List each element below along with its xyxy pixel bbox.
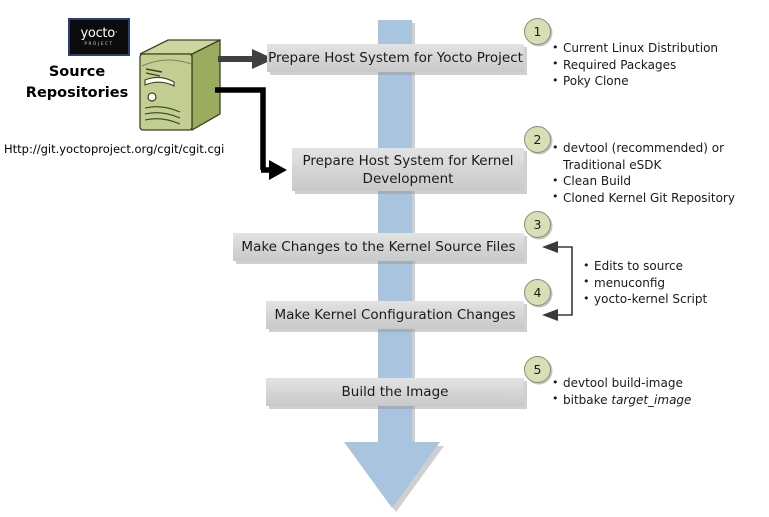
list-item: Cloned Kernel Git Repository xyxy=(552,190,764,207)
bitbake-command: bitbake xyxy=(563,393,611,407)
list-item: devtool (recommended) or Traditional eSD… xyxy=(552,140,764,173)
process-box-step1[interactable]: Prepare Host System for Yocto Project xyxy=(267,44,524,72)
step1-bullet-list: Current Linux Distribution Required Pack… xyxy=(552,40,762,90)
list-item: menuconfig xyxy=(583,275,763,292)
process-box-step5[interactable]: Build the Image xyxy=(266,378,524,406)
process-box-step3-label: Make Changes to the Kernel Source Files xyxy=(241,238,515,256)
connector-server-to-step2 xyxy=(215,80,287,180)
process-box-step4[interactable]: Make Kernel Configuration Changes xyxy=(266,301,524,329)
process-box-step4-label: Make Kernel Configuration Changes xyxy=(274,306,515,324)
server-tower-icon xyxy=(136,36,222,136)
step-number-1: 1 xyxy=(524,18,551,45)
step5-bullet-list: devtool build-image bitbake target_image xyxy=(552,375,752,408)
step3-step4-shared-bullet-list: Edits to source menuconfig yocto-kernel … xyxy=(583,258,763,308)
step-number-5-text: 5 xyxy=(534,362,542,377)
list-item: Required Packages xyxy=(552,57,762,74)
list-item: devtool build-image xyxy=(552,375,752,392)
list-item: Edits to source xyxy=(583,258,763,275)
step-number-3: 3 xyxy=(524,211,551,238)
logo-dot: · xyxy=(115,28,118,38)
step-number-4: 4 xyxy=(524,279,551,306)
source-repository-url: Http://git.yoctoproject.org/cgit/cgit.cg… xyxy=(4,142,224,156)
process-box-step3[interactable]: Make Changes to the Kernel Source Files xyxy=(233,233,524,261)
process-box-step2[interactable]: Prepare Host System for Kernel Developme… xyxy=(292,148,524,191)
logo-wordmark: yocto· xyxy=(81,27,118,40)
list-item: yocto-kernel Script xyxy=(583,291,763,308)
step-number-1-text: 1 xyxy=(534,24,542,39)
process-box-step5-label: Build the Image xyxy=(342,383,449,401)
yocto-project-logo: yocto· PROJECT xyxy=(68,18,130,56)
list-item: Current Linux Distribution xyxy=(552,40,762,57)
step-number-5: 5 xyxy=(524,356,551,383)
list-item: Clean Build xyxy=(552,173,764,190)
logo-wordmark-text: yocto xyxy=(81,26,115,41)
list-item-bitbake: bitbake target_image xyxy=(552,392,752,409)
logo-subtext: PROJECT xyxy=(84,42,113,46)
bitbake-target-arg: target_image xyxy=(611,393,691,407)
list-item: Poky Clone xyxy=(552,73,762,90)
step-number-4-text: 4 xyxy=(534,285,542,300)
flow-arrow-head xyxy=(336,434,448,510)
step-number-3-text: 3 xyxy=(534,217,542,232)
process-box-step1-label: Prepare Host System for Yocto Project xyxy=(268,49,523,67)
step-number-2-text: 2 xyxy=(534,132,542,147)
source-label-line2: Repositories xyxy=(16,83,138,104)
source-repositories-label: Source Repositories xyxy=(16,62,138,104)
process-box-step2-label: Prepare Host System for Kernel Developme… xyxy=(292,152,524,188)
step-number-2: 2 xyxy=(524,126,551,153)
source-label-line1: Source xyxy=(16,62,138,83)
diagram-canvas: yocto· PROJECT Source Repositories Http:… xyxy=(0,0,769,517)
step2-bullet-list: devtool (recommended) or Traditional eSD… xyxy=(552,140,764,206)
